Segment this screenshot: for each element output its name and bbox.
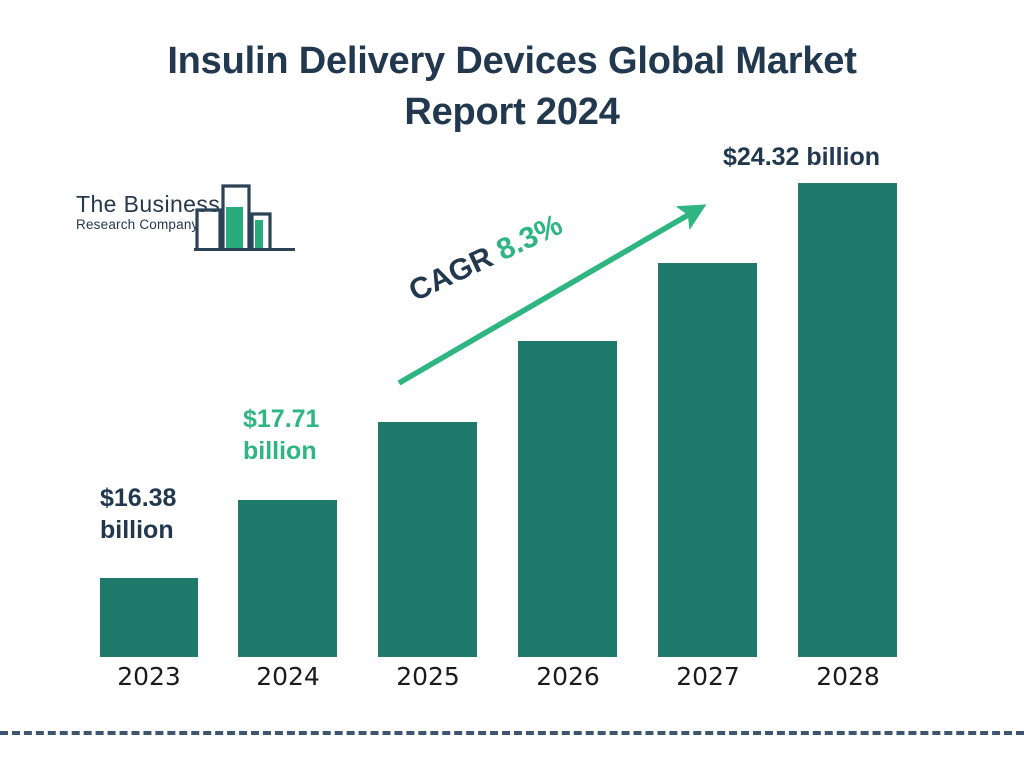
value-callout-2024-amount: $17.71 <box>243 404 319 436</box>
footer-divider <box>0 731 1024 735</box>
value-callout-2023: $16.38 billion <box>100 483 176 546</box>
bar-chart-plot: 2023 2024 2025 2026 2027 2028 CAGR 8.3% … <box>0 0 1024 768</box>
value-callout-2024: $17.71 billion <box>243 404 319 467</box>
value-callout-2023-amount: $16.38 <box>100 483 176 515</box>
value-callout-2023-unit: billion <box>100 515 176 547</box>
value-callout-2028: $24.32 billion <box>723 142 880 174</box>
value-callout-2024-unit: billion <box>243 436 319 468</box>
growth-arrow-icon <box>0 0 1024 768</box>
chart-canvas: Insulin Delivery Devices Global Market R… <box>0 0 1024 768</box>
